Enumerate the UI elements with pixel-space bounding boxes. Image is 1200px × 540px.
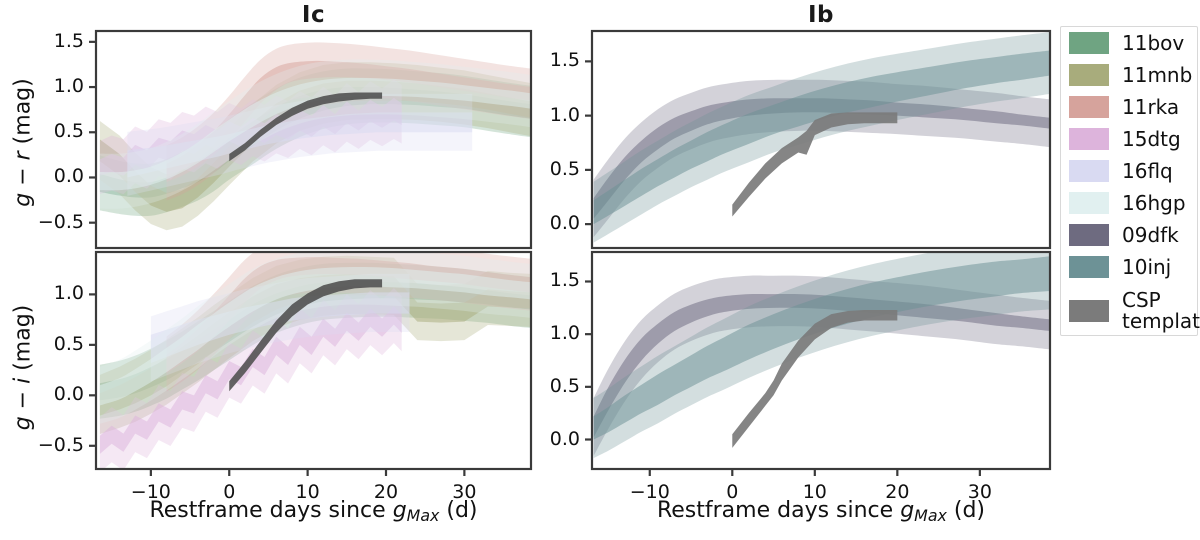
ytick-label-top-left-1: 1.0 bbox=[6, 75, 84, 97]
ytick-label-top-right-2: 0.5 bbox=[502, 158, 580, 180]
legend-swatch-16flq bbox=[1069, 160, 1109, 182]
legend-swatch-09dfk bbox=[1069, 224, 1109, 246]
legend-label-16hgp: 16hgp bbox=[1122, 193, 1186, 214]
legend-item-11bov[interactable]: 11bov bbox=[1061, 27, 1197, 59]
legend-swatch-11mnb bbox=[1069, 64, 1109, 86]
ytick-label-bottom-left-3: −0.5 bbox=[6, 434, 84, 456]
ytick-label-bottom-right-3: 0.0 bbox=[502, 428, 580, 450]
xtick-label-bottom-left-1: 0 bbox=[189, 481, 269, 503]
legend-item-16flq[interactable]: 16flq bbox=[1061, 155, 1197, 187]
xtick-label-bottom-right-4: 30 bbox=[940, 481, 1020, 503]
legend-label-10inj: 10inj bbox=[1122, 257, 1171, 278]
ytick-label-bottom-left-2: 0.0 bbox=[6, 383, 84, 405]
legend-label-11mnb: 11mnb bbox=[1122, 65, 1192, 86]
ytick-label-bottom-right-2: 0.5 bbox=[502, 375, 580, 397]
band-group-top-right bbox=[594, 32, 1050, 242]
plot-area bbox=[0, 0, 1200, 540]
legend: 11bov11mnb11rka15dtg16flq16hgp09dfk10inj… bbox=[1060, 26, 1198, 336]
ytick-label-top-right-3: 0.0 bbox=[502, 212, 580, 234]
legend-label-09dfk: 09dfk bbox=[1122, 225, 1179, 246]
legend-label-11bov: 11bov bbox=[1122, 33, 1184, 54]
legend-item-16hgp[interactable]: 16hgp bbox=[1061, 187, 1197, 219]
ytick-label-top-right-0: 1.5 bbox=[502, 49, 580, 71]
legend-swatch-15dtg bbox=[1069, 128, 1109, 150]
legend-swatch-10inj bbox=[1069, 256, 1109, 278]
ytick-label-bottom-right-1: 1.0 bbox=[502, 322, 580, 344]
ytick-label-top-left-0: 1.5 bbox=[6, 30, 84, 52]
ytick-label-bottom-left-1: 0.5 bbox=[6, 333, 84, 355]
xtick-label-bottom-right-2: 10 bbox=[775, 481, 855, 503]
legend-item-csp[interactable]: CSPtemplate bbox=[1061, 283, 1197, 339]
legend-swatch-11bov bbox=[1069, 32, 1109, 54]
ytick-label-bottom-right-0: 1.5 bbox=[502, 269, 580, 291]
legend-item-09dfk[interactable]: 09dfk bbox=[1061, 219, 1197, 251]
xtick-label-bottom-left-4: 30 bbox=[424, 481, 504, 503]
legend-label-csp: CSPtemplate bbox=[1122, 290, 1200, 332]
legend-swatch-csp bbox=[1069, 300, 1109, 322]
legend-item-15dtg[interactable]: 15dtg bbox=[1061, 123, 1197, 155]
ytick-label-top-left-2: 0.5 bbox=[6, 120, 84, 142]
legend-item-10inj[interactable]: 10inj bbox=[1061, 251, 1197, 283]
xtick-label-bottom-right-3: 20 bbox=[857, 481, 937, 503]
ytick-label-top-left-4: −0.5 bbox=[6, 211, 84, 233]
xtick-label-bottom-right-1: 0 bbox=[692, 481, 772, 503]
legend-item-11mnb[interactable]: 11mnb bbox=[1061, 59, 1197, 91]
legend-swatch-11rka bbox=[1069, 96, 1109, 118]
ytick-label-top-right-1: 1.0 bbox=[502, 104, 580, 126]
legend-label-15dtg: 15dtg bbox=[1122, 129, 1181, 150]
xtick-label-bottom-left-2: 10 bbox=[268, 481, 348, 503]
legend-label-11rka: 11rka bbox=[1122, 97, 1179, 118]
legend-item-11rka[interactable]: 11rka bbox=[1061, 91, 1197, 123]
xtick-label-bottom-right-0: −10 bbox=[610, 481, 690, 503]
legend-label-16flq: 16flq bbox=[1122, 161, 1173, 182]
band-group-bottom-right bbox=[594, 238, 1050, 458]
xtick-label-bottom-left-0: −10 bbox=[111, 481, 191, 503]
legend-swatch-16hgp bbox=[1069, 192, 1109, 214]
xtick-label-bottom-left-3: 20 bbox=[346, 481, 426, 503]
band-group-top-left bbox=[100, 42, 531, 230]
ytick-label-bottom-left-0: 1.0 bbox=[6, 282, 84, 304]
figure-root: Ic Ib g − r (mag) g − i (mag) Restframe … bbox=[0, 0, 1200, 540]
ytick-label-top-left-3: 0.0 bbox=[6, 165, 84, 187]
band-group-bottom-left bbox=[100, 239, 531, 473]
